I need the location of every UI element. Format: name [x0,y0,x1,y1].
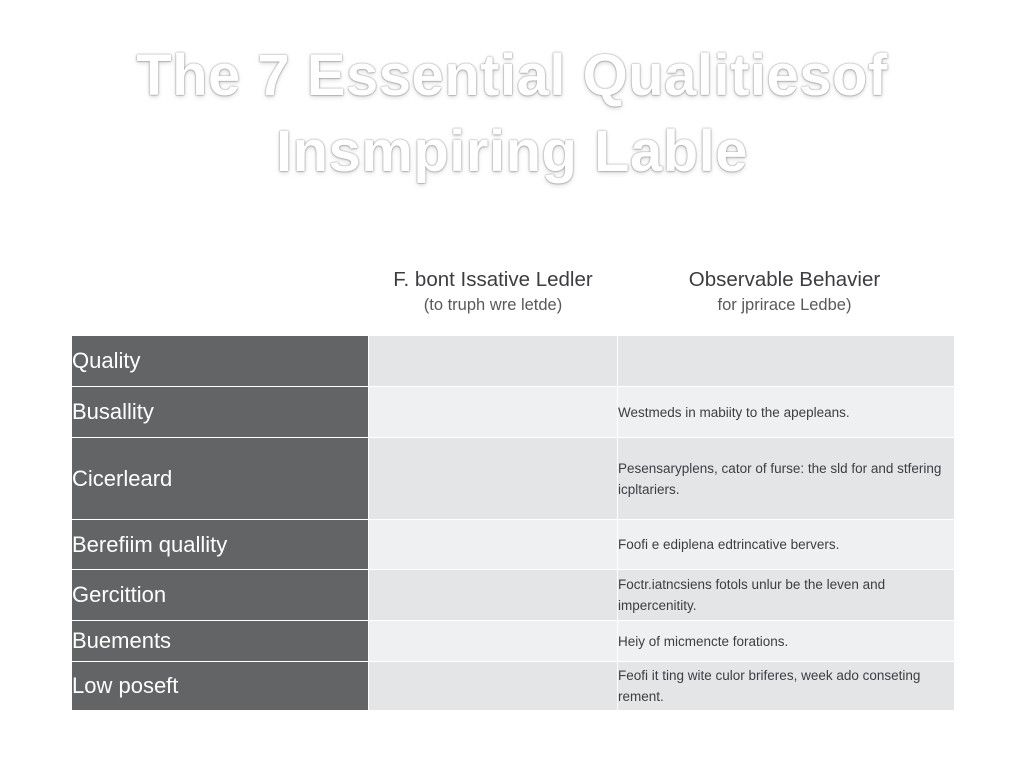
table-row: Berefiim quallity Foofi e ediplena edtri… [72,519,954,569]
table-cell-observable-behavior: Pesensaryplens, cator of furse: the sld … [617,437,954,519]
table-cell-quality: Low poseft [72,661,368,710]
table-row: Buements Heiy of micmencte forations. [72,620,954,661]
table-row: Quality [72,336,954,386]
table-cell-quality: Gercittion [72,569,368,620]
title-line-1: The 7 Essential Qualitiesof [72,38,952,114]
table-cell-inner-reality [368,569,617,620]
quality-label: Busallity [72,399,368,425]
table-cell-quality: Cicerleard [72,437,368,519]
quality-label: Quality [72,348,368,374]
table-cell-observable-behavior: Feofi it ting wite culor briferes, week … [617,661,954,710]
table-cell-quality: Quality [72,336,368,386]
table-cell-inner-reality [368,336,617,386]
qualities-table: Quality Busallity Westmeds in mabiity to… [72,336,954,710]
table-cell-observable-behavior: Foctr.iatncsiens fotols unlur be the lev… [617,569,954,620]
table-body: Quality Busallity Westmeds in mabiity to… [72,336,954,710]
column-header-observable-behavior: Observable Behavier for jprirace Ledbe) [617,266,952,317]
table-cell-inner-reality [368,437,617,519]
column-header-observable-behavior-title: Observable Behavier [617,266,952,293]
quality-label: Low poseft [72,673,368,699]
observable-behavior-text: Foofi e ediplena edtrincative bervers. [618,534,954,555]
title-line-2: Insmpiring Lable [72,114,952,190]
column-header-observable-behavior-subtitle: for jprirace Ledbe) [617,293,952,317]
table-cell-observable-behavior: Heiy of micmencte forations. [617,620,954,661]
observable-behavior-text: Pesensaryplens, cator of furse: the sld … [618,458,954,500]
quality-label: Gercittion [72,582,368,608]
table-cell-quality: Berefiim quallity [72,519,368,569]
table-cell-quality: Busallity [72,386,368,437]
table-cell-inner-reality [368,661,617,710]
table-cell-quality: Buements [72,620,368,661]
table-row: Cicerleard Pesensaryplens, cator of furs… [72,437,954,519]
table-row: Busallity Westmeds in mabiity to the ape… [72,386,954,437]
page-title: The 7 Essential Qualitiesof Insmpiring L… [72,38,952,190]
table-cell-observable-behavior: Foofi e ediplena edtrincative bervers. [617,519,954,569]
table-cell-observable-behavior [617,336,954,386]
observable-behavior-text: Heiy of micmencte forations. [618,631,954,652]
observable-behavior-text: Westmeds in mabiity to the apepleans. [618,402,954,423]
table-cell-inner-reality [368,386,617,437]
quality-label: Cicerleard [72,466,368,492]
observable-behavior-text: Feofi it ting wite culor briferes, week … [618,665,954,707]
slide-canvas: The 7 Essential Qualitiesof Insmpiring L… [0,0,1024,768]
quality-label: Buements [72,628,368,654]
table-column-headers: F. bont Issative Ledler (to truph wre le… [72,266,952,328]
table-row: Low poseft Feofi it ting wite culor brif… [72,661,954,710]
table-row: Gercittion Foctr.iatncsiens fotols unlur… [72,569,954,620]
column-header-inner-reality-title: F. bont Issative Ledler [368,266,618,293]
table-cell-inner-reality [368,620,617,661]
column-header-inner-reality-subtitle: (to truph wre letde) [368,293,618,317]
column-header-inner-reality: F. bont Issative Ledler (to truph wre le… [368,266,618,317]
observable-behavior-text: Foctr.iatncsiens fotols unlur be the lev… [618,574,954,616]
table-cell-inner-reality [368,519,617,569]
quality-label: Berefiim quallity [72,532,368,558]
table-cell-observable-behavior: Westmeds in mabiity to the apepleans. [617,386,954,437]
